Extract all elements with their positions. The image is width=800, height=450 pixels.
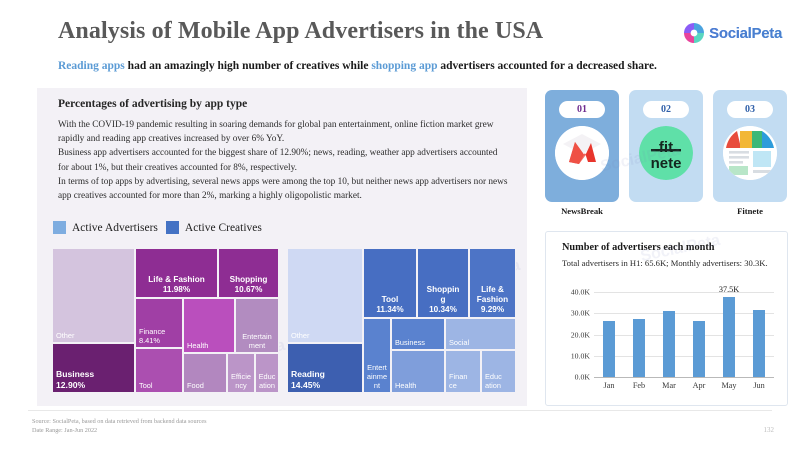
treemap-cell[interactable]: Business12.90%	[52, 343, 135, 393]
legend-swatch-creatives	[166, 221, 179, 234]
chart-gridline	[594, 356, 774, 357]
rank-badge-2: 02	[643, 101, 689, 118]
rank-text-3: 03	[745, 104, 755, 115]
x-axis-tick-label: May	[721, 381, 736, 390]
bar[interactable]	[663, 311, 675, 377]
treemap-cell[interactable]: Tool	[135, 348, 183, 393]
treemap-cell-label: Shopping10.34%	[418, 285, 468, 315]
treemap-cell[interactable]: Health	[183, 298, 235, 353]
treemap-cell-label: Education	[485, 372, 513, 390]
treemap-cell[interactable]: Social	[445, 318, 516, 350]
treemap-cell[interactable]: Health	[391, 350, 445, 393]
treemap-active-creatives: OtherReading14.45%Tool11.34%Shopping10.3…	[287, 248, 516, 393]
legend-label-creatives: Active Creatives	[185, 222, 262, 234]
bar[interactable]	[693, 321, 705, 377]
app-name-2: Fitnete	[713, 206, 787, 216]
footer-source-line: Source: SocialPeta, based on data retrie…	[32, 417, 207, 426]
chart-subtitle: Total advertisers in H1: 65.6K; Monthly …	[562, 257, 777, 269]
treemap-cell-label: Other	[291, 331, 360, 340]
chart-gridline	[594, 313, 774, 314]
rank-text-1: 01	[577, 104, 587, 115]
treemap-cell[interactable]: Other	[52, 248, 135, 343]
rank-badge-1: 01	[559, 101, 605, 118]
bar[interactable]	[753, 310, 765, 377]
treemap-cell-label: Life &Fashion9.29%	[470, 285, 515, 315]
app-name-1: NewsBreak	[545, 206, 619, 216]
treemap-cell-label: Entertainment	[364, 363, 390, 390]
x-axis-tick-label: Feb	[633, 381, 645, 390]
treemap-cell[interactable]: Shopping10.34%	[417, 248, 469, 318]
bar-chart-plot: 0.0K10.0K20.0K30.0K40.0KJanFebMarAprMay3…	[594, 292, 774, 377]
paragraph-1: With the COVID-19 pandemic resulting in …	[58, 118, 510, 146]
treemap-cell[interactable]: Life &Fashion9.29%	[469, 248, 516, 318]
treemap-cell[interactable]: Reading14.45%	[287, 343, 363, 393]
y-axis-tick-label: 20.0K	[571, 330, 590, 339]
svg-text:nete: nete	[651, 155, 682, 172]
newsbreak-icon	[555, 126, 609, 180]
bar[interactable]	[723, 297, 735, 377]
page-number: 132	[764, 426, 775, 434]
y-axis-tick-label: 30.0K	[571, 309, 590, 318]
treemap-cell-label: Efficiency	[228, 372, 254, 390]
rank-text-2: 02	[661, 104, 671, 115]
x-axis-tick-label: Jan	[604, 381, 615, 390]
page-title: Analysis of Mobile App Advertisers in th…	[58, 18, 543, 45]
treemap-cell-label: Other	[56, 331, 132, 340]
treemap-cell[interactable]: Finance8.41%	[135, 298, 183, 348]
treemap-cell[interactable]: Education	[481, 350, 516, 393]
treemap-cell[interactable]: Business	[391, 318, 445, 350]
bar-value-label: 37.5K	[719, 285, 739, 294]
app-card-3[interactable]: 03 SmartNews	[713, 90, 787, 202]
footer-divider	[28, 410, 772, 411]
footer-source: Source: SocialPeta, based on data retrie…	[32, 417, 207, 435]
subtitle-highlight-reading: Reading apps	[58, 60, 125, 72]
treemap-cell-label: Education	[256, 372, 278, 390]
treemap-cell-label: Finance8.41%	[139, 327, 180, 345]
treemap-cell-label: Entertainment	[236, 332, 278, 350]
chart-title: Number of advertisers each month	[562, 242, 715, 253]
legend-label-advertisers: Active Advertisers	[72, 222, 158, 234]
y-axis-tick-label: 40.0K	[571, 288, 590, 297]
subtitle-highlight-shopping: shopping app	[371, 60, 437, 72]
treemap-cell-label: Reading14.45%	[291, 369, 360, 390]
x-axis-tick-label: Mar	[662, 381, 676, 390]
y-axis-tick-label: 10.0K	[571, 351, 590, 360]
chart-gridline	[594, 292, 774, 293]
treemap-cell[interactable]: Other	[287, 248, 363, 343]
chart-gridline	[594, 335, 774, 336]
rank-badge-3: 03	[727, 101, 773, 118]
treemap-cell[interactable]: Entertainment	[363, 318, 391, 393]
treemap-cell[interactable]: Efficiency	[227, 353, 255, 393]
slide-root: Analysis of Mobile App Advertisers in th…	[0, 0, 800, 450]
subtitle: Reading apps had an amazingly high numbe…	[58, 60, 657, 72]
fitnete-icon: fit nete	[639, 126, 693, 180]
legend-item-creatives: Active Creatives	[166, 221, 262, 234]
app-card-2[interactable]: 02 fit nete Fitnete	[629, 90, 703, 202]
treemap-cell-label: Social	[449, 338, 513, 347]
legend-swatch-advertisers	[53, 221, 66, 234]
treemap-cell-label: Health	[395, 381, 442, 390]
treemap-cell[interactable]: Tool11.34%	[363, 248, 417, 318]
paragraph-2: Business app advertisers accounted for t…	[58, 146, 510, 174]
treemap-cell-label: Business12.90%	[56, 369, 132, 390]
pinwheel-icon	[683, 22, 705, 44]
subtitle-text-2: advertisers accounted for a decreased sh…	[438, 60, 657, 72]
treemap-cell-label: Shopping10.67%	[219, 275, 278, 295]
treemap-cell-label: Finance	[449, 372, 478, 390]
bar[interactable]	[603, 321, 615, 377]
x-axis-tick-label: Apr	[693, 381, 706, 390]
treemap-cell-label: Tool11.34%	[364, 295, 416, 315]
legend-item-advertisers: Active Advertisers	[53, 221, 158, 234]
smartnews-icon	[723, 126, 777, 180]
subtitle-text-1: had an amazingly high number of creative…	[125, 60, 372, 72]
treemap-cell-label: Life & Fashion11.98%	[136, 275, 217, 295]
panel-heading: Percentages of advertising by app type	[58, 98, 247, 110]
treemap-cell-label: Business	[395, 338, 442, 347]
panel-body-text: With the COVID-19 pandemic resulting in …	[58, 118, 510, 203]
y-axis-tick-label: 0.0K	[575, 373, 590, 382]
brand-logo: SocialPeta	[683, 22, 782, 44]
treemap-cell[interactable]: Shopping10.67%	[218, 248, 279, 298]
footer-date-range: Date Range: Jan-Jun 2022	[32, 426, 207, 435]
bar[interactable]	[633, 319, 645, 377]
treemap-legend: Active Advertisers Active Creatives	[53, 221, 262, 234]
top-apps-cards: 01 NewsBreak 02 fit nete	[545, 90, 788, 218]
x-axis-tick-label: Jun	[753, 381, 764, 390]
treemap-cell-label: Tool	[139, 381, 180, 390]
chart-gridline	[594, 377, 774, 378]
treemap-cell-label: Food	[187, 381, 224, 390]
treemap-cell[interactable]: Entertainment	[235, 298, 279, 353]
app-card-1[interactable]: 01 NewsBreak	[545, 90, 619, 202]
logo-text: SocialPeta	[709, 25, 782, 42]
treemap-cell[interactable]: Finance	[445, 350, 481, 393]
treemap-cell[interactable]: Life & Fashion11.98%	[135, 248, 218, 298]
monthly-advertisers-chart-panel: Number of advertisers each month Total a…	[545, 231, 788, 406]
treemap-active-advertisers: OtherBusiness12.90%Life & Fashion11.98%S…	[52, 248, 279, 393]
treemap-cell[interactable]: Education	[255, 353, 279, 393]
paragraph-3: In terms of top apps by advertising, sev…	[58, 175, 510, 203]
svg-text:fit: fit	[659, 139, 673, 156]
treemap-cell[interactable]: Food	[183, 353, 227, 393]
treemap-cell-label: Health	[187, 341, 232, 350]
